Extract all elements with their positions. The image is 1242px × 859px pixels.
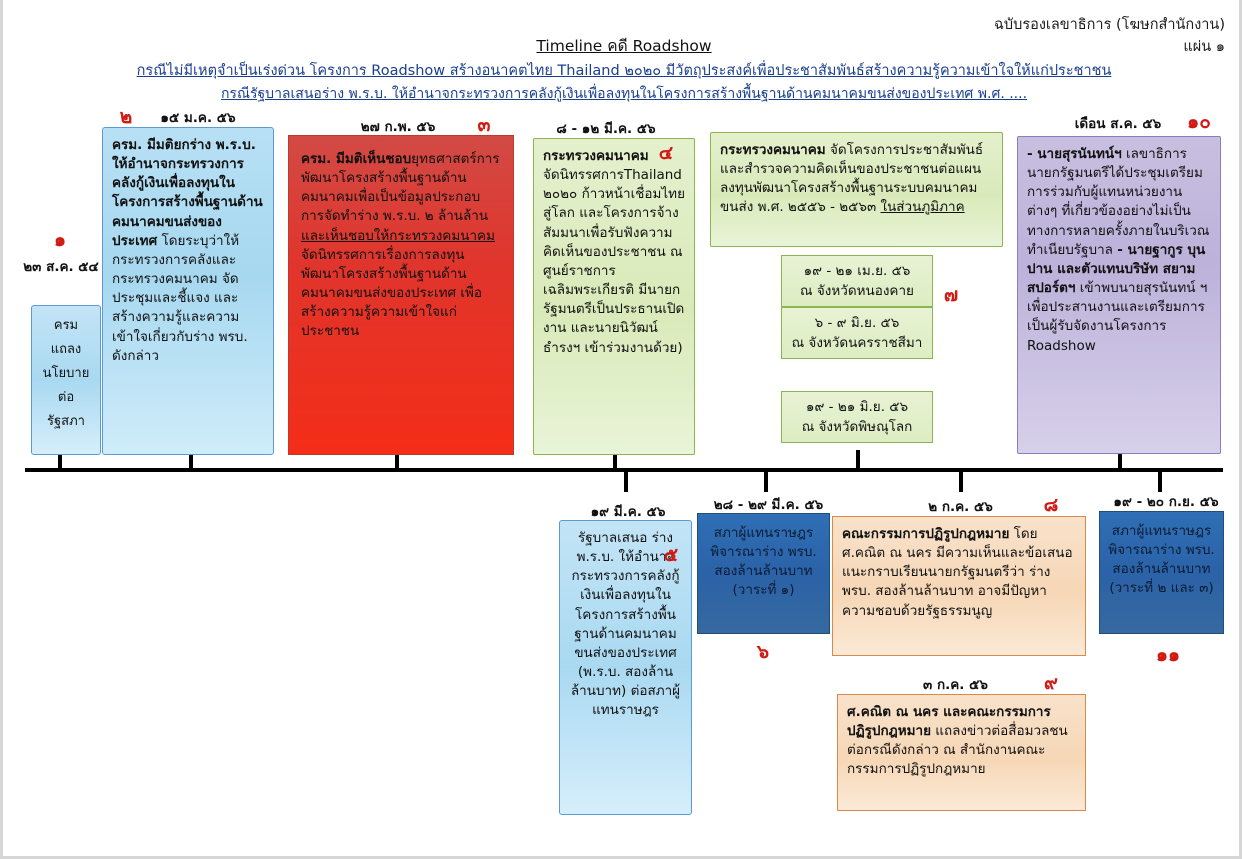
event-body-3b: จัดนิทรรศการเรื่องการลงทุนพัฒนาโครงสร้าง… — [301, 247, 482, 340]
event-date-5: ๑๙ มี.ค. ๕๖ — [568, 500, 688, 522]
subevent-place-7-3: ณ จังหวัดพิษณุโลก — [786, 418, 928, 438]
event-marker-10: ๑๐ — [1179, 107, 1219, 137]
event-box-6[interactable]: สภาผู้แทนราษฎร พิจารณาร่าง พรบ. สองล้านล… — [697, 513, 830, 634]
event-box-7[interactable]: กระทรวงคมนาคม จัดโครงการประชาสัมพันธ์และ… — [710, 132, 1003, 247]
event-box-9[interactable]: ศ.คณิต ณ นคร และคณะกรรมการปฏิรูปกฎหมาย แ… — [837, 694, 1086, 811]
page-subtitle-1: กรณีไม่มีเหตุจำเป็นเร่งด่วน โครงการ Road… — [3, 59, 1242, 82]
axis-tick-8 — [959, 470, 963, 492]
event-box-4[interactable]: กระทรวงคมนาคม จัดนิทรรศการThailand ๒๐๒๐ … — [533, 138, 695, 455]
event-box-2[interactable]: ครม. มีมติยกร่าง พ.ร.บ. ให้อำนาจกระทรวงก… — [102, 127, 274, 455]
axis-tick-7 — [856, 450, 860, 470]
event-marker-4: ๔ — [653, 138, 679, 168]
event-date-9: ๓ ก.ค. ๕๖ — [903, 673, 1008, 695]
axis-tick-5 — [624, 470, 628, 492]
event-marker-6: ๖ — [750, 637, 776, 667]
page-title: Timeline คดี Roadshow — [3, 33, 1242, 58]
subevent-date-7-1: ๑๙ - ๒๑ เม.ย. ๕๖ — [786, 262, 928, 282]
event-date-2: ๑๕ ม.ค. ๕๖ — [143, 106, 253, 128]
event-body-4: จัดนิทรรศการThailand ๒๐๒๐ ก้าวหน้าเชื่อม… — [543, 167, 685, 355]
event-body-6: สภาผู้แทนราษฎร พิจารณาร่าง พรบ. สองล้านล… — [710, 525, 816, 598]
event-box-8[interactable]: คณะกรรมการปฏิรูปกฎหมาย โดย ศ.คณิต ณ นคร … — [832, 516, 1086, 656]
event-date-3: ๒๗ ก.พ. ๕๖ — [333, 115, 463, 137]
event-date-11: ๑๙ - ๒๐ ก.ย. ๕๖ — [1092, 490, 1240, 512]
event-date-6: ๒๘ - ๒๙ มี.ค. ๕๖ — [696, 493, 841, 515]
event-box-3[interactable]: ครม. มีมติเห็นชอบยุทธศาสตร์การพัฒนาโครงส… — [288, 135, 514, 455]
event-subbox-7-3[interactable]: ๑๙ - ๒๑ มิ.ย. ๕๖ ณ จังหวัดพิษณุโลก — [781, 391, 933, 443]
subevent-date-7-3: ๑๙ - ๒๑ มิ.ย. ๕๖ — [786, 398, 928, 418]
event-body-4-bold: กระทรวงคมนาคม — [543, 148, 649, 164]
event-subbox-7-2[interactable]: ๖ - ๙ มิ.ย. ๕๖ ณ จังหวัดนครราชสีมา — [781, 307, 933, 359]
event-date-8: ๒ ก.ค. ๕๖ — [908, 495, 1013, 517]
event-marker-1: ๑ — [33, 225, 87, 255]
event-box-11[interactable]: สภาผู้แทนราษฎร พิจารณาร่าง พรบ. สองล้านล… — [1099, 511, 1224, 634]
event-body-7-bold: กระทรวงคมนาคม — [720, 142, 826, 158]
page-subtitle-2: กรณีรัฐบาลเสนอร่าง พ.ร.บ. ให้อำนาจกระทรว… — [3, 83, 1242, 105]
axis-tick-11 — [1158, 470, 1162, 492]
subevent-date-7-2: ๖ - ๙ มิ.ย. ๕๖ — [786, 314, 928, 334]
event-marker-5: ๕ — [658, 540, 684, 570]
event-body-8-bold: คณะกรรมการปฏิรูปกฎหมาย — [842, 526, 1009, 542]
event-box-10[interactable]: - นายสุรนันทน์ฯ เลขาธิการนายกรัฐมนตรีได้… — [1017, 136, 1221, 454]
event-body-1: ครม แถลง นโยบาย ต่อ รัฐสภา — [43, 318, 90, 429]
timeline-page: ฉบับรองเลขาธิการ (โฆษกสำนักงาน) แผ่น ๑ T… — [0, 0, 1242, 859]
event-body-11: สภาผู้แทนราษฎร พิจารณาร่าง พรบ. สองล้านล… — [1108, 523, 1214, 596]
event-body-3-bold: ครม. มีมติเห็นชอบ — [301, 151, 411, 167]
event-date-1: ๒๓ ส.ค. ๕๔ — [13, 255, 109, 277]
subevent-place-7-2: ณ จังหวัดนครราชสีมา — [786, 334, 928, 354]
event-body-7-underline: ในส่วนภูมิภาค — [880, 199, 964, 215]
event-body-10-bold-a: - นายสุรนันทน์ฯ — [1027, 146, 1122, 162]
event-subbox-7-1[interactable]: ๑๙ - ๒๑ เม.ย. ๕๖ ณ จังหวัดหนองคาย — [781, 255, 933, 307]
axis-tick-6 — [764, 470, 768, 492]
event-date-4: ๘ - ๑๒ มี.ค. ๕๖ — [531, 117, 681, 139]
event-marker-7: ๗ — [938, 280, 964, 310]
event-marker-11: ๑๑ — [1148, 640, 1188, 670]
event-body-2: โดยระบุว่าให้กระทรวงการคลังและกระทรวงคมน… — [112, 233, 248, 364]
subevent-place-7-1: ณ จังหวัดหนองคาย — [786, 282, 928, 302]
event-box-1[interactable]: ครม แถลง นโยบาย ต่อ รัฐสภา — [31, 305, 101, 455]
event-date-10: เดือน ส.ค. ๕๖ — [1063, 112, 1173, 134]
event-body-3-underline: และเห็นชอบให้กระทรวงคมนาคม — [301, 228, 495, 244]
